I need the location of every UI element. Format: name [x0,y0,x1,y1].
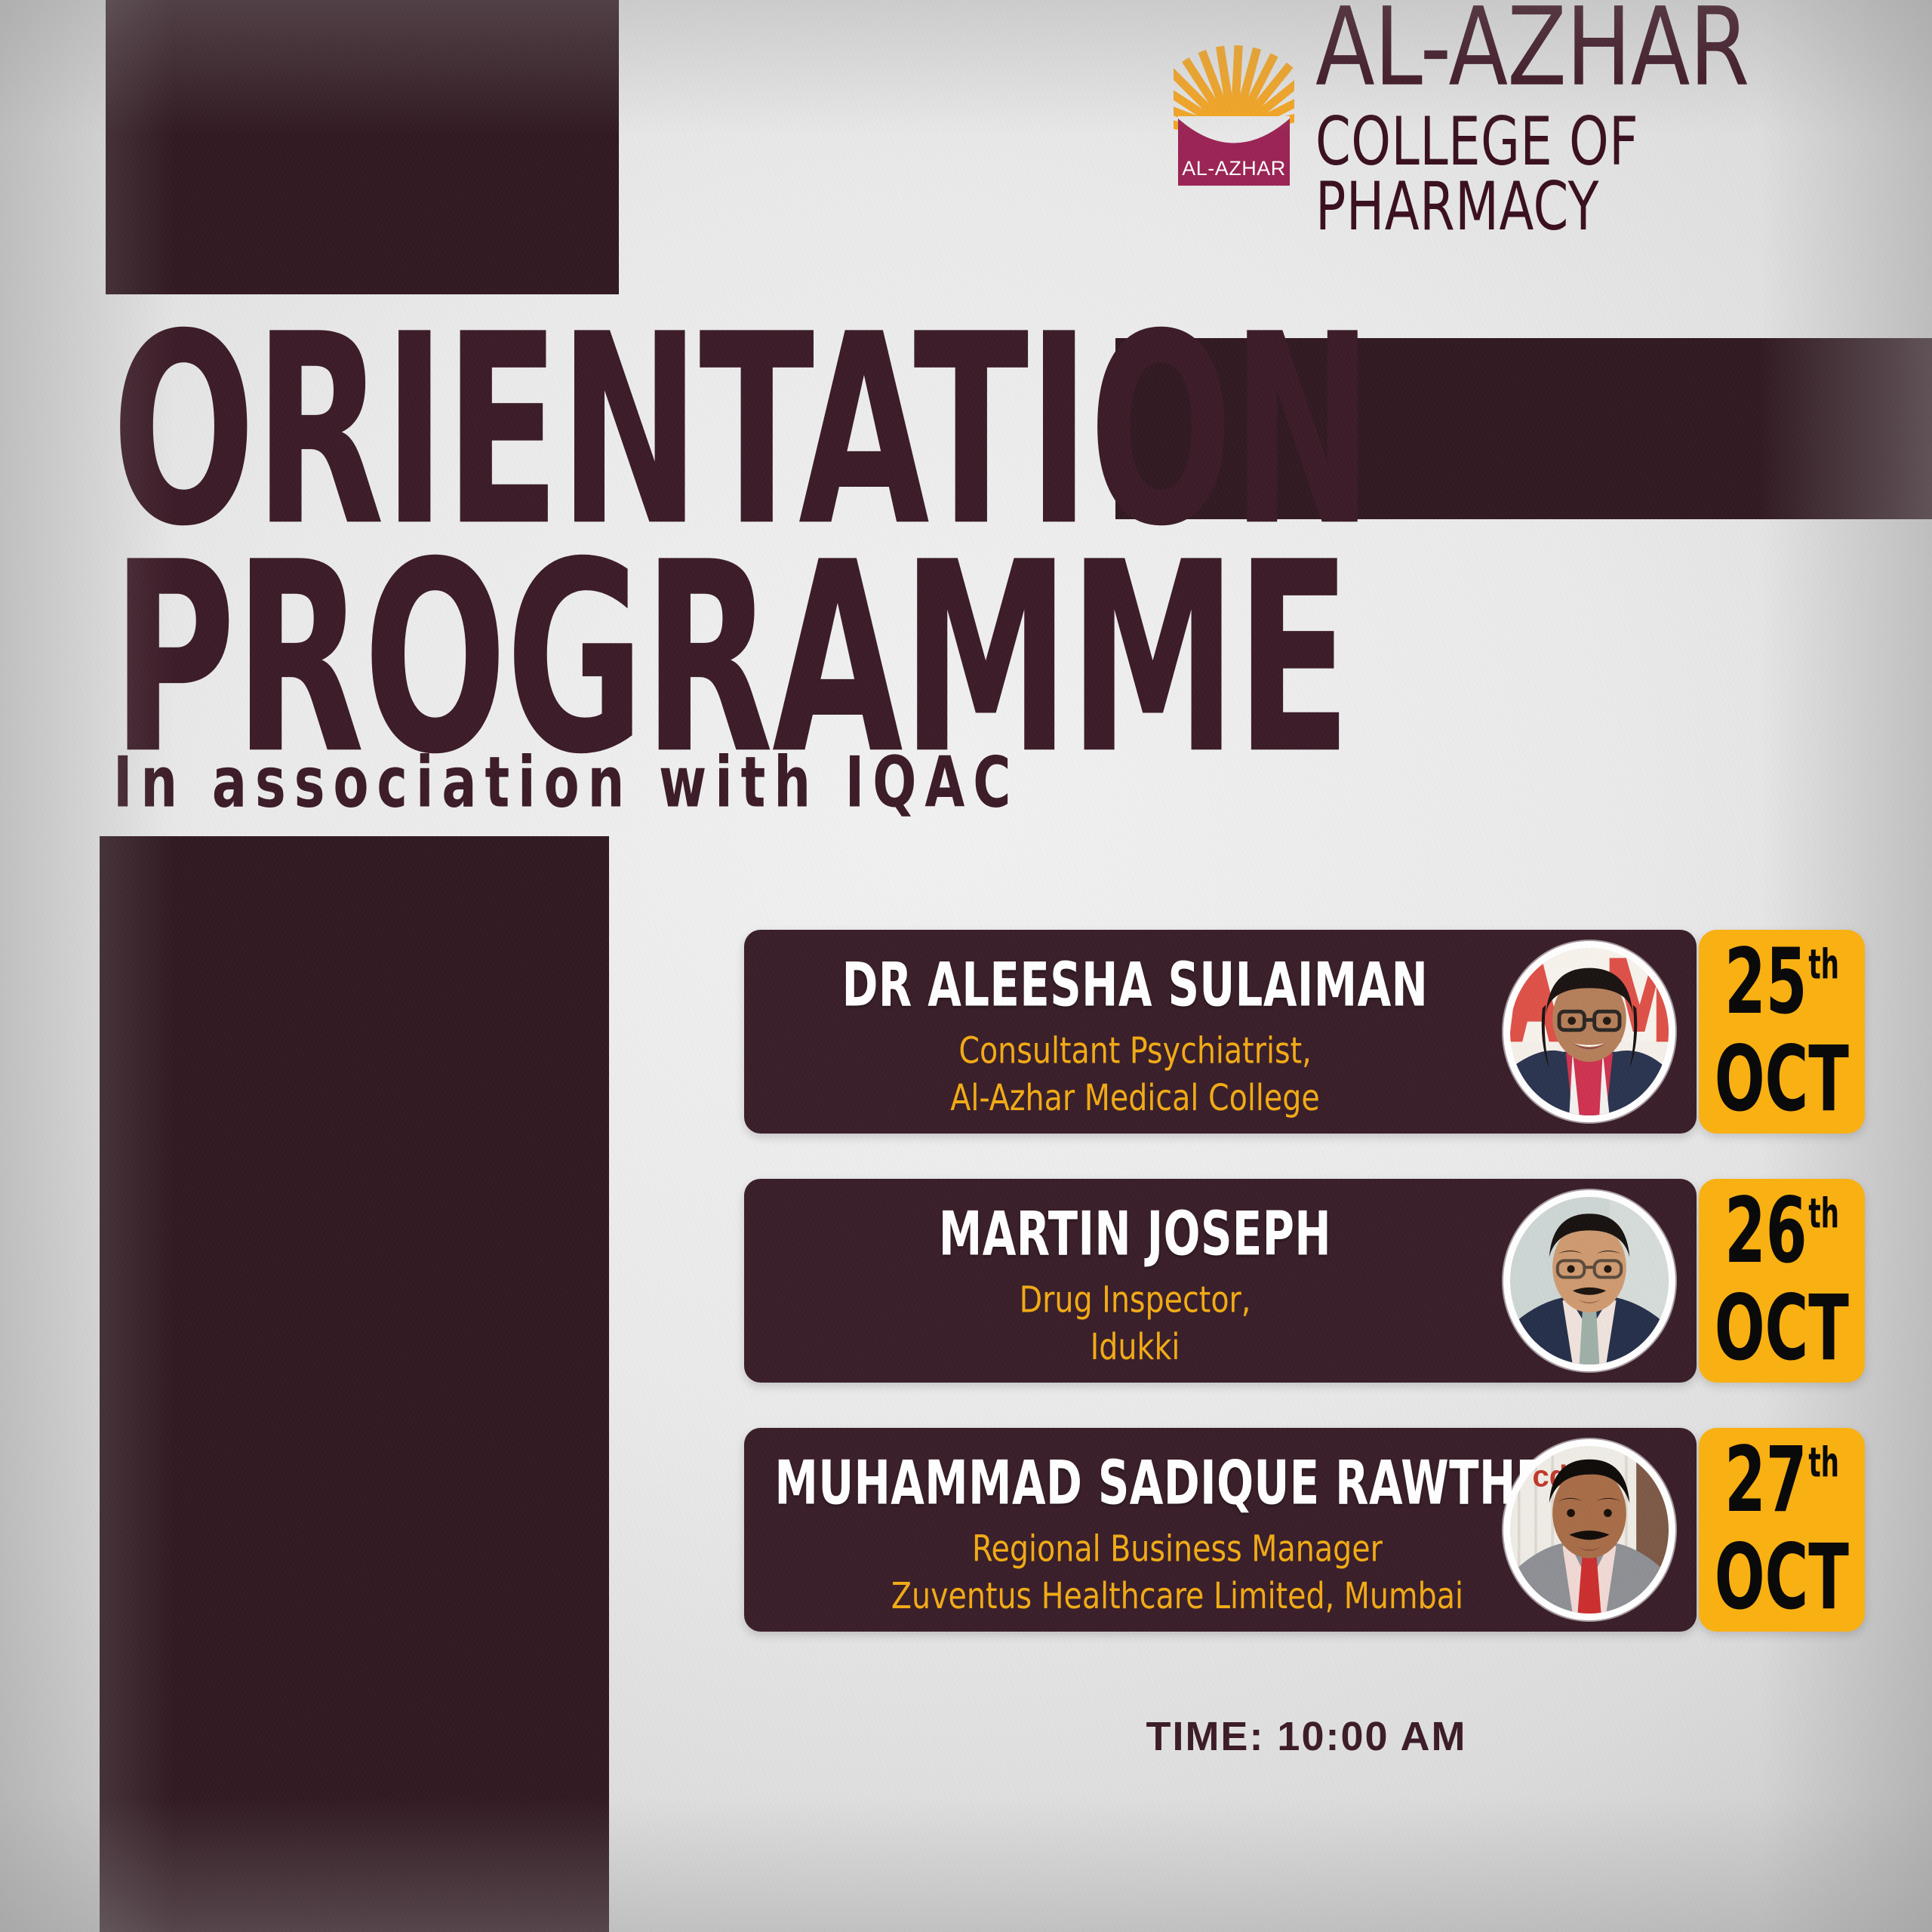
date-day: 25 [1724,942,1807,1025]
speaker-photo-muhammad-sadique-rawther: cdl [1503,1439,1675,1620]
speaker-role: Drug Inspector, Idukki [762,1276,1508,1371]
sunburst-icon: AL-AZHAR [1174,41,1294,188]
logo-badge-text: AL-AZHAR [1182,157,1286,180]
decorative-block-top-left [106,0,619,294]
date-day-wrap: 26 th [1724,1191,1839,1274]
speaker-role-line-2: Al-Azhar Medical College [762,1075,1508,1122]
speaker-card-body: MARTIN JOSEPH Drug Inspector, Idukki [744,1179,1697,1383]
date-month: OCT [1715,1038,1849,1121]
headline-line-2: PROGRAMME [112,552,1109,768]
speaker-card-body: MUHAMMAD SADIQUE RAWTHER Regional Busine… [744,1428,1697,1632]
date-day-wrap: 25 th [1724,942,1839,1025]
date-month: OCT [1715,1537,1849,1620]
event-time: TIME: 10:00 AM [744,1713,1869,1760]
speaker-card-list: DR ALEESHA SULAIMAN Consultant Psychiatr… [744,930,1869,1677]
date-day: 26 [1724,1191,1807,1274]
avatar-image: cdl [1510,1446,1669,1614]
college-logo: AL-AZHAR AL-AZHAR COLLEGE OF PHARMACY [1174,35,1928,193]
logo-wordmark: AL-AZHAR COLLEGE OF PHARMACY [1315,7,1928,221]
logo-line-1: AL-AZHAR [1315,0,1928,100]
speaker-role: Regional Business Manager Zuventus Healt… [762,1525,1592,1620]
speaker-role-line-2: Idukki [762,1324,1508,1371]
speaker-role-line-2: Zuventus Healthcare Limited, Mumbai [762,1573,1592,1620]
date-day-wrap: 27 th [1724,1440,1839,1523]
date-day: 27 [1724,1440,1807,1523]
speaker-date-chip: 26 th OCT [1699,1179,1865,1383]
speaker-role-line-1: Consultant Psychiatrist, [762,1027,1508,1075]
page-title: ORIENTATION PROGRAMME [112,325,1183,718]
date-suffix: th [1808,1443,1839,1484]
speaker-card[interactable]: MUHAMMAD SADIQUE RAWTHER Regional Busine… [744,1428,1869,1632]
poster-canvas: AL-AZHAR AL-AZHAR COLLEGE OF PHARMACY OR… [0,0,1932,1932]
avatar-image [1510,948,1669,1115]
speaker-date-chip: 27 th OCT [1699,1428,1865,1632]
date-suffix: th [1808,945,1839,986]
speaker-role: Consultant Psychiatrist, Al-Azhar Medica… [762,1027,1508,1122]
speaker-card-body: DR ALEESHA SULAIMAN Consultant Psychiatr… [744,930,1697,1134]
date-month: OCT [1715,1287,1849,1371]
headline-subtitle: In association with IQAC [113,741,1019,823]
avatar-image [1510,1197,1669,1364]
speaker-photo-martin-joseph [1503,1190,1675,1371]
logo-line-2: COLLEGE OF PHARMACY [1315,109,1916,238]
speaker-role-line-1: Drug Inspector, [762,1276,1508,1324]
speaker-name: DR ALEESHA SULAIMAN [774,949,1497,1020]
speaker-name: MUHAMMAD SADIQUE RAWTHER [774,1447,1580,1518]
speaker-date-chip: 25 th OCT [1699,930,1865,1134]
decorative-block-left-bar [100,836,609,1932]
speaker-card[interactable]: DR ALEESHA SULAIMAN Consultant Psychiatr… [744,930,1869,1134]
date-suffix: th [1808,1194,1839,1235]
speaker-name: MARTIN JOSEPH [774,1198,1497,1269]
speaker-role-line-1: Regional Business Manager [762,1525,1592,1573]
speaker-card[interactable]: MARTIN JOSEPH Drug Inspector, Idukki [744,1179,1869,1383]
speaker-photo-aleesha-sulaiman [1503,941,1675,1122]
